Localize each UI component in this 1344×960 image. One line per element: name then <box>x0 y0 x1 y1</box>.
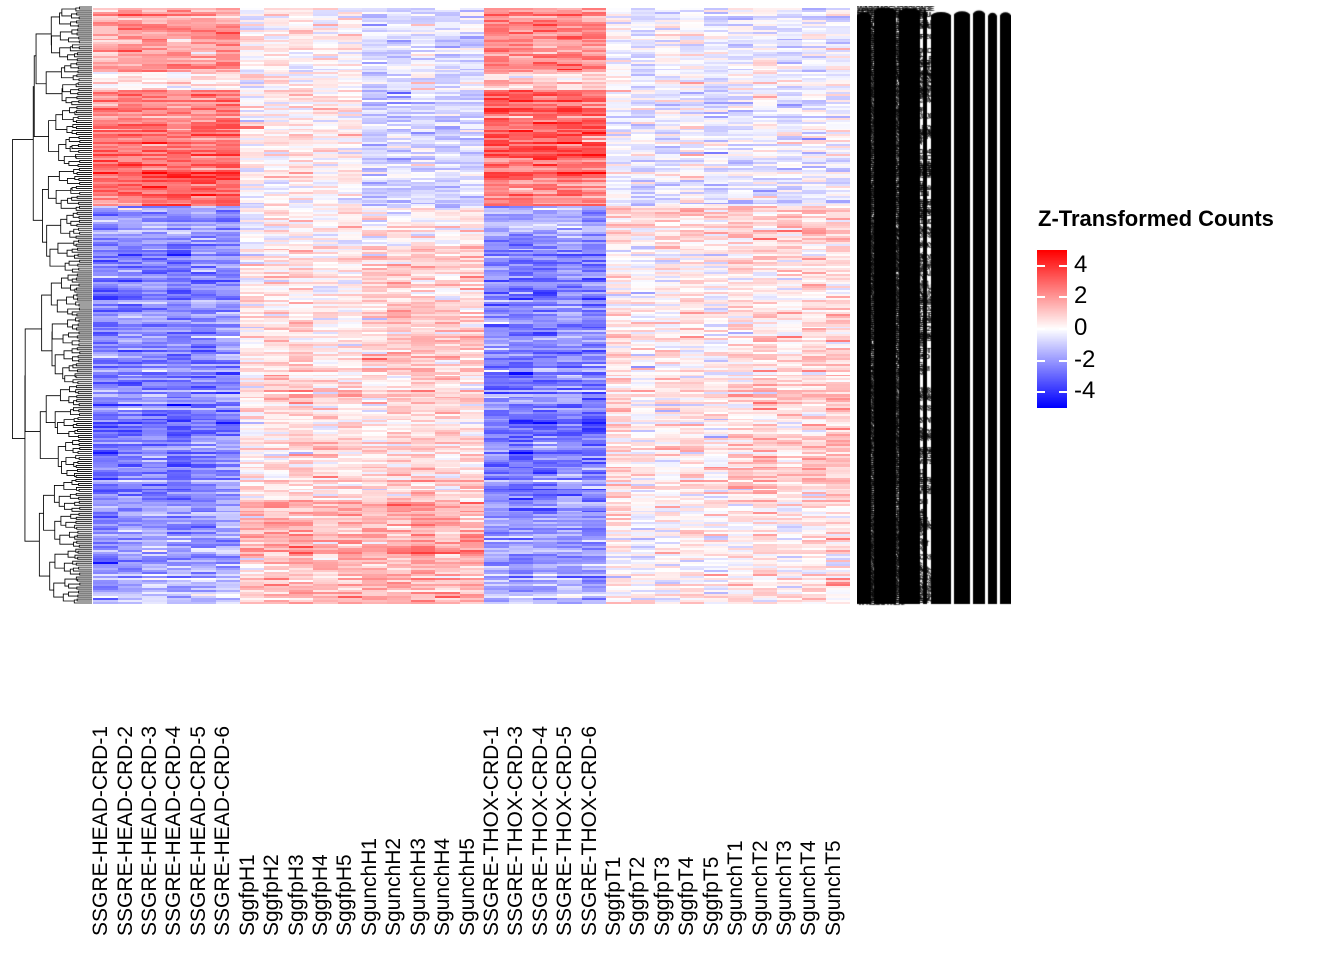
dendrogram-branches <box>13 7 93 603</box>
column-label: SSGRE-THOX-CRD-1 <box>480 726 504 936</box>
column-label: SgunchT1 <box>724 840 748 936</box>
column-label: SggfpH5 <box>333 854 357 936</box>
row-dendrogram <box>10 4 92 606</box>
column-label: SggfpT3 <box>651 857 675 936</box>
column-label: SggfpH4 <box>309 854 333 936</box>
column-label: SSGRE-HEAD-CRD-1 <box>89 726 113 936</box>
column-label: SggfpT1 <box>602 857 626 936</box>
column-label: SgunchT2 <box>749 840 773 936</box>
colorbar-tick <box>1059 391 1067 393</box>
colorbar-tick <box>1059 328 1067 330</box>
column-label: SSGRE-HEAD-CRD-3 <box>138 726 162 936</box>
legend: Z-Transformed Counts 420-2-4 <box>1036 206 1336 421</box>
row-labels-canvas <box>857 6 1011 606</box>
column-label: SgunchH2 <box>382 838 406 936</box>
column-label: SSGRE-THOX-CRD-4 <box>529 726 553 936</box>
column-label: SggfpH2 <box>260 854 284 936</box>
column-label: SSGRE-HEAD-CRD-5 <box>187 726 211 936</box>
column-label: SggfpT5 <box>700 857 724 936</box>
colorbar-tick-label: -4 <box>1074 379 1095 403</box>
column-label: SSGRE-HEAD-CRD-4 <box>162 726 186 936</box>
column-label: SSGRE-THOX-CRD-6 <box>578 726 602 936</box>
colorbar-tick <box>1059 265 1067 267</box>
heatmap-body <box>93 8 850 604</box>
colorbar-tick <box>1037 360 1045 362</box>
column-label: SSGRE-HEAD-CRD-6 <box>211 726 235 936</box>
column-label: SSGRE-HEAD-CRD-2 <box>114 726 138 936</box>
column-label: SgunchT4 <box>797 840 821 936</box>
column-label: SggfpH3 <box>285 854 309 936</box>
colorbar-tick <box>1037 391 1045 393</box>
colorbar-tick-label: -2 <box>1074 348 1095 372</box>
colorbar-tick <box>1059 360 1067 362</box>
column-label: SSGRE-THOX-CRD-5 <box>553 726 577 936</box>
colorbar-tick <box>1037 328 1045 330</box>
colorbar-tick <box>1059 296 1067 298</box>
colorbar-tick <box>1037 265 1045 267</box>
colorbar-tick <box>1037 296 1045 298</box>
colorbar-tick-label: 4 <box>1074 253 1087 277</box>
colorbar-tick-label: 0 <box>1074 316 1087 340</box>
colorbar-tick-label: 2 <box>1074 284 1087 308</box>
column-label: SgunchH4 <box>431 838 455 936</box>
column-label: SggfpT4 <box>675 857 699 936</box>
column-label: SggfpT2 <box>626 857 650 936</box>
row-dendrogram-svg <box>10 4 92 606</box>
column-label: SgunchT3 <box>773 840 797 936</box>
column-labels: SSGRE-HEAD-CRD-1SSGRE-HEAD-CRD-2SSGRE-HE… <box>93 606 853 936</box>
column-label: SggfpH1 <box>236 854 260 936</box>
column-label: SgunchH3 <box>407 838 431 936</box>
column-label: SgunchT5 <box>822 840 846 936</box>
heatmap-figure: SSGRE-HEAD-CRD-1SSGRE-HEAD-CRD-2SSGRE-HE… <box>0 0 1344 960</box>
column-label: SgunchH5 <box>456 838 480 936</box>
heatmap-canvas <box>93 8 850 604</box>
legend-title: Z-Transformed Counts <box>1038 206 1274 232</box>
column-label: SgunchH1 <box>358 838 382 936</box>
column-label: SSGRE-THOX-CRD-3 <box>504 726 528 936</box>
row-label-block <box>857 6 1011 606</box>
